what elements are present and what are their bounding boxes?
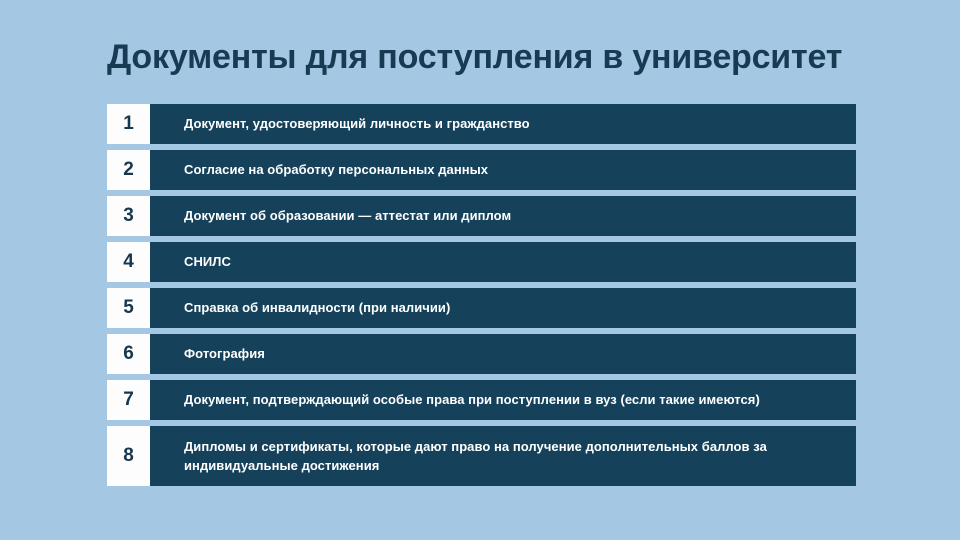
list-item-label: Согласие на обработку персональных данны… xyxy=(184,161,488,179)
list-item-body: Фотография xyxy=(150,334,856,374)
list-item-label: Фотография xyxy=(184,345,265,363)
list-item[interactable]: 7 Документ, подтверждающий особые права … xyxy=(107,380,856,420)
list-item-number: 7 xyxy=(107,380,150,420)
list-item[interactable]: 6 Фотография xyxy=(107,334,856,374)
list-item-label: Дипломы и сертификаты, которые дают прав… xyxy=(184,437,840,475)
list-item-label: Справка об инвалидности (при наличии) xyxy=(184,299,450,317)
list-item[interactable]: 8 Дипломы и сертификаты, которые дают пр… xyxy=(107,426,856,486)
list-item-body: СНИЛС xyxy=(150,242,856,282)
list-item-number: 6 xyxy=(107,334,150,374)
list-item-number: 1 xyxy=(107,104,150,144)
documents-list: 1 Документ, удостоверяющий личность и гр… xyxy=(107,104,856,486)
list-item[interactable]: 1 Документ, удостоверяющий личность и гр… xyxy=(107,104,856,144)
list-item-number: 2 xyxy=(107,150,150,190)
list-item-label: СНИЛС xyxy=(184,253,231,271)
list-item-number: 3 xyxy=(107,196,150,236)
list-item-body: Документ, подтверждающий особые права пр… xyxy=(150,380,856,420)
list-item-body: Документ об образовании — аттестат или д… xyxy=(150,196,856,236)
list-item-body: Документ, удостоверяющий личность и граж… xyxy=(150,104,856,144)
list-item-body: Согласие на обработку персональных данны… xyxy=(150,150,856,190)
list-item-number: 5 xyxy=(107,288,150,328)
list-item-label: Документ об образовании — аттестат или д… xyxy=(184,207,511,225)
slide-canvas: Документы для поступления в университет … xyxy=(0,0,960,540)
list-item[interactable]: 2 Согласие на обработку персональных дан… xyxy=(107,150,856,190)
list-item-body: Дипломы и сертификаты, которые дают прав… xyxy=(150,426,856,486)
list-item-label: Документ, удостоверяющий личность и граж… xyxy=(184,115,530,133)
list-item[interactable]: 5 Справка об инвалидности (при наличии) xyxy=(107,288,856,328)
page-title: Документы для поступления в университет xyxy=(107,36,907,78)
list-item-number: 8 xyxy=(107,426,150,486)
list-item-label: Документ, подтверждающий особые права пр… xyxy=(184,391,760,409)
list-item-number: 4 xyxy=(107,242,150,282)
list-item-body: Справка об инвалидности (при наличии) xyxy=(150,288,856,328)
list-item[interactable]: 3 Документ об образовании — аттестат или… xyxy=(107,196,856,236)
list-item[interactable]: 4 СНИЛС xyxy=(107,242,856,282)
